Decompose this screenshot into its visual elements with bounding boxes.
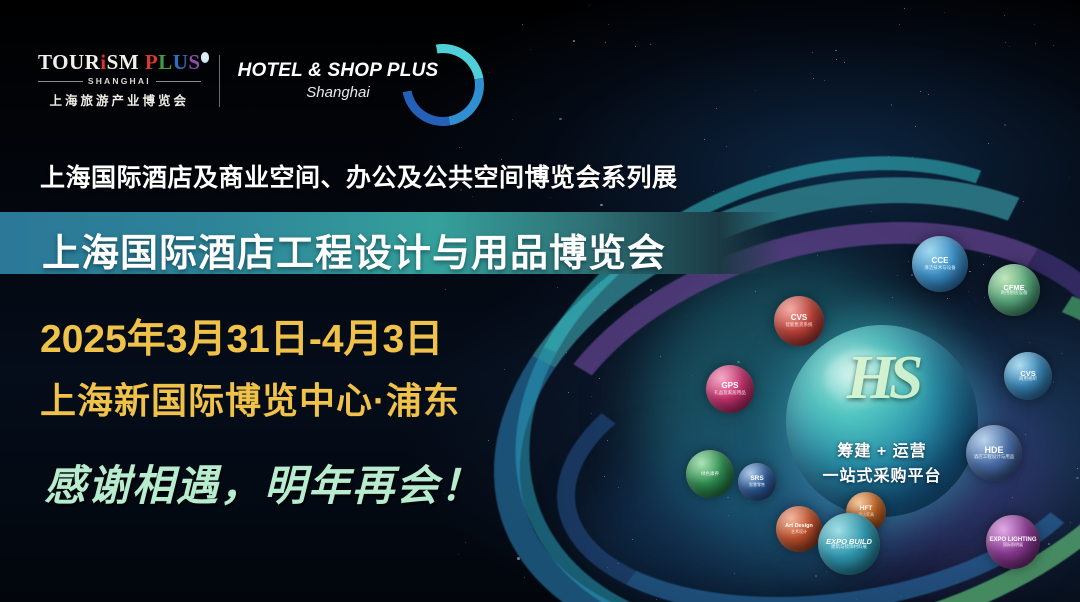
hotel-shop-plus-logo[interactable]: HOTEL & SHOP PLUS Shanghai <box>238 60 439 101</box>
hsp-text-block: HOTEL & SHOP PLUS Shanghai <box>238 60 439 101</box>
badge-cvs-red[interactable]: CVS 智能售货系统 <box>774 296 824 346</box>
badge-art-desc: 艺术设计 <box>791 530 807 534</box>
logo-divider <box>219 55 220 107</box>
promo-banner: HS 筹建 + 运营 一站式采购平台 CCE 清洁技术与设备 CFME 商用厨房… <box>0 0 1080 602</box>
badge-cvs-red-desc: 智能售货系统 <box>786 323 813 328</box>
event-slogan: 感谢相遇，明年再会！ <box>44 452 484 513</box>
tp-l: L <box>158 50 173 74</box>
tourism-plus-chinese: 上海旅游产业博览会 <box>50 90 190 109</box>
rule-left <box>38 81 83 82</box>
hsp-city: Shanghai <box>238 84 439 101</box>
badge-expo-build-desc: 建筑与装饰材料展 <box>831 545 867 550</box>
tp-sm: SM <box>107 50 140 74</box>
sphere-tagline-1: 筹建 + 运营 <box>786 437 978 461</box>
rule-right <box>156 81 201 82</box>
tourism-plus-logo[interactable]: TOURiSM PLUS® SHANGHAI 上海旅游产业博览会 <box>38 52 201 109</box>
badge-expo-lighting-desc: 国际照明展 <box>1003 543 1023 547</box>
badge-gps-desc: 礼品及家居用品 <box>714 391 746 396</box>
tp-trademark: ® <box>201 52 210 63</box>
sphere-tagline-2: 一站式采购平台 <box>786 462 978 486</box>
badge-hde[interactable]: HDE 酒店工程设计与用品 <box>966 425 1022 481</box>
tp-s: S <box>188 50 200 74</box>
badge-srs[interactable]: SRS 智慧零售 <box>738 463 776 501</box>
badge-cvs-blue[interactable]: CVS 商用视听 <box>1004 352 1052 400</box>
tp-p: P <box>145 50 158 74</box>
page-title: 上海国际酒店工程设计与用品博览会 <box>42 222 666 277</box>
tp-u: U <box>173 50 189 74</box>
badge-cce[interactable]: CCE 清洁技术与设备 <box>912 236 968 292</box>
tp-tour: TOUR <box>38 50 100 74</box>
badge-hde-desc: 酒店工程设计与用品 <box>974 455 1015 460</box>
badge-gps[interactable]: GPS 礼品及家居用品 <box>706 365 754 413</box>
badge-cfme-desc: 商用厨房设备 <box>1001 291 1028 296</box>
tourism-plus-wordmark: TOURiSM PLUS® <box>38 52 201 73</box>
badge-green[interactable]: 绿色康养 <box>686 450 734 498</box>
badge-cvs-blue-desc: 商用视听 <box>1019 377 1037 382</box>
event-venue: 上海新国际博览中心·浦东 <box>40 372 460 424</box>
badge-green-desc: 绿色康养 <box>701 472 719 477</box>
badge-cce-desc: 清洁技术与设备 <box>924 266 956 271</box>
hs-monogram: HS <box>786 343 978 414</box>
badge-cfme[interactable]: CFME 商用厨房设备 <box>988 264 1040 316</box>
tourism-plus-city: SHANGHAI <box>88 76 151 86</box>
logo-lockup: TOURiSM PLUS® SHANGHAI 上海旅游产业博览会 HOTEL &… <box>38 52 438 109</box>
badge-expo-build[interactable]: EXPO BUILD 建筑与装饰材料展 <box>818 513 880 575</box>
badge-expo-lighting[interactable]: EXPO LIGHTING 国际照明展 <box>986 515 1040 569</box>
badge-art-design[interactable]: Art Design 艺术设计 <box>776 506 822 552</box>
central-sphere: HS 筹建 + 运营 一站式采购平台 <box>786 325 978 517</box>
series-line: 上海国际酒店及商业空间、办公及公共空间博览会系列展 <box>40 158 678 194</box>
badge-srs-desc: 智慧零售 <box>749 483 765 487</box>
hsp-wordmark: HOTEL & SHOP PLUS <box>238 60 439 82</box>
tourism-plus-city-row: SHANGHAI <box>38 76 201 86</box>
event-date: 2025年3月31日-4月3日 <box>40 308 443 364</box>
